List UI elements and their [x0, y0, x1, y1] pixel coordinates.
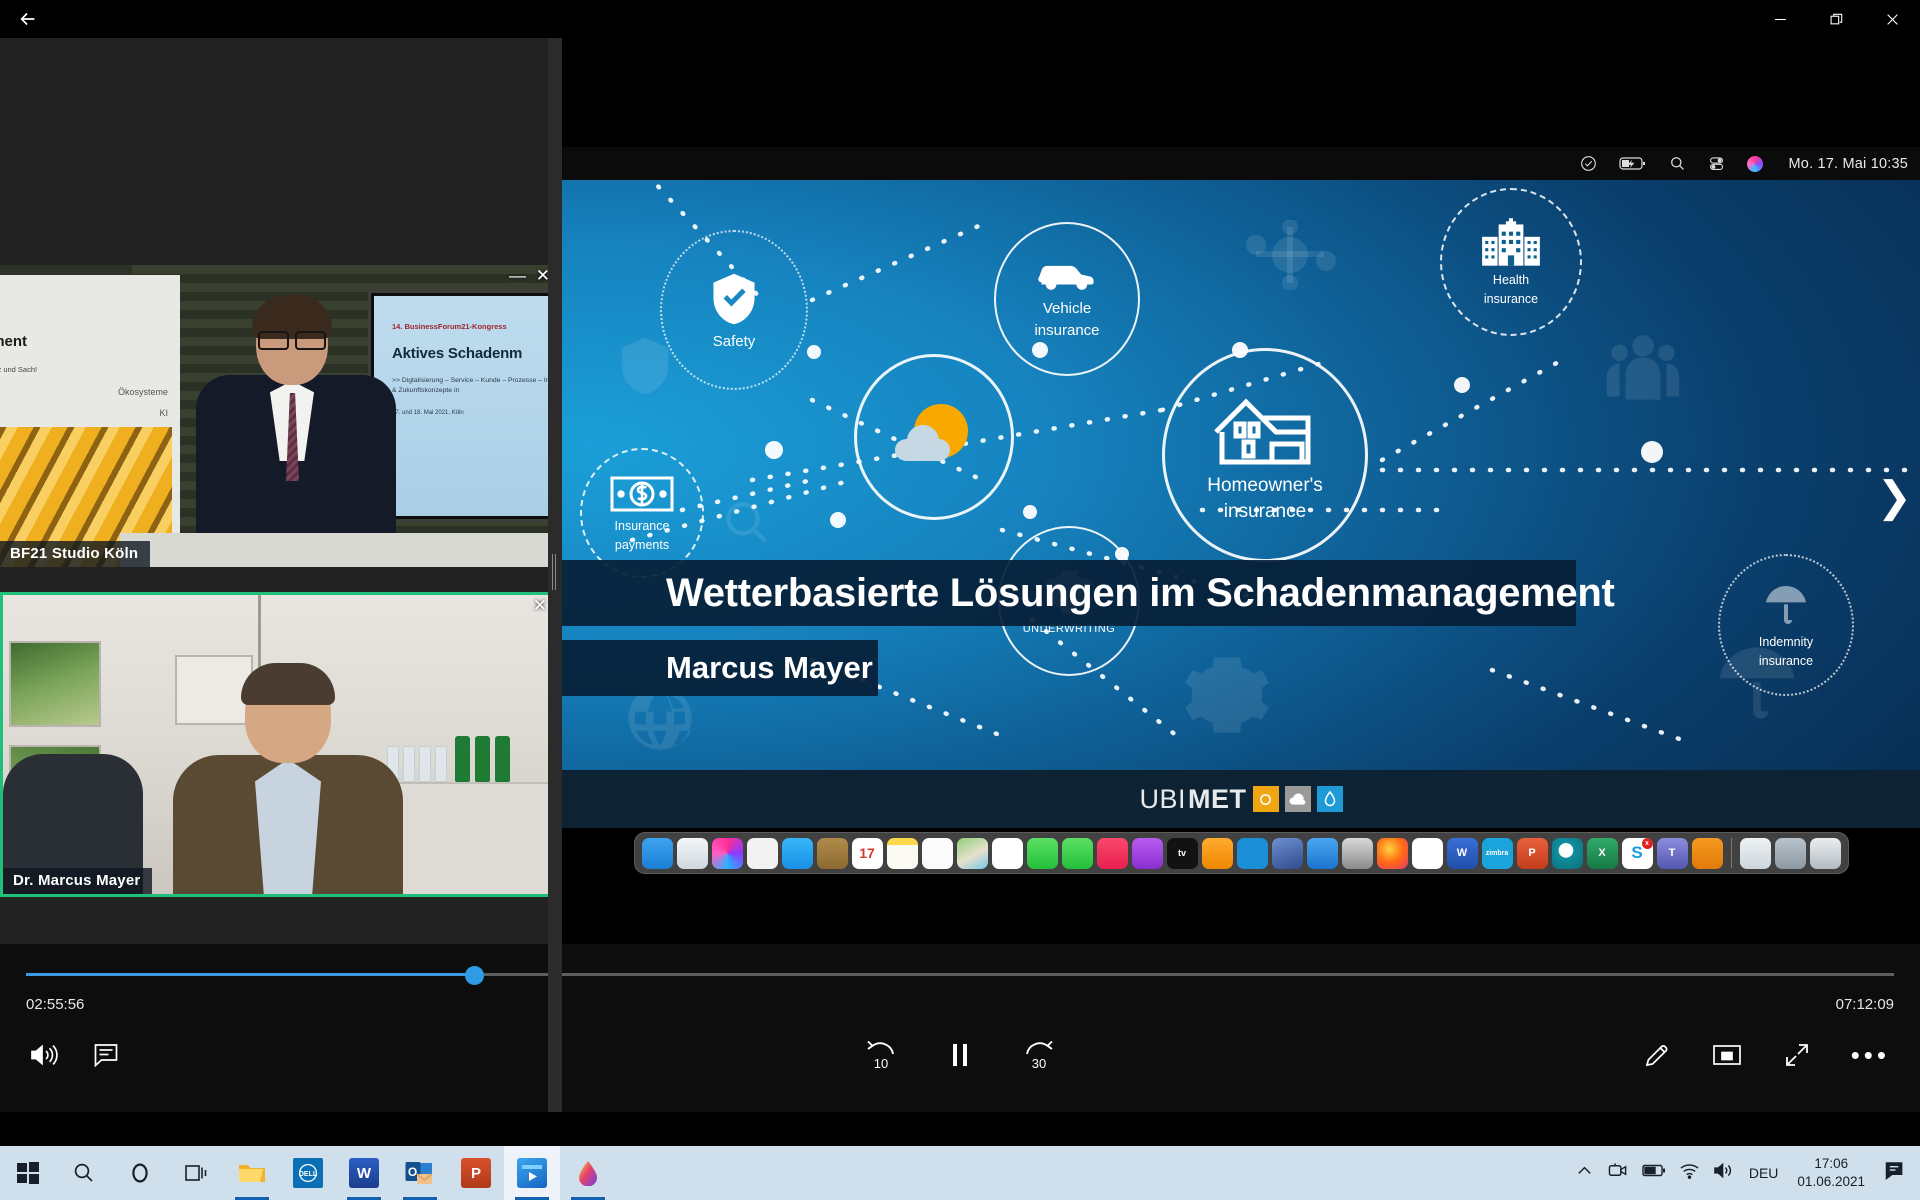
node-vehicle-insurance: Vehicle insurance [994, 222, 1140, 376]
node-insurance-payments: Insurance payments [580, 448, 704, 578]
total-time: 07:12:09 [1836, 996, 1894, 1013]
node-label-line1: Vehicle [1043, 301, 1091, 318]
video-frame: nd 18. Mai 2021, online chadenmanagement… [0, 265, 556, 567]
close-button[interactable] [1864, 0, 1920, 38]
node-label-line1: Health [1493, 273, 1529, 287]
volume-icon[interactable] [28, 1032, 60, 1078]
banner-subline: tegien & Steuerungskonzepte in Kfz und S… [0, 365, 168, 376]
player-controls: 02:55:56 07:12:09 [0, 944, 1920, 1112]
dock-item-word[interactable]: W [1447, 838, 1478, 869]
dock-item-siri[interactable] [712, 838, 743, 869]
dock-separator [1731, 838, 1732, 868]
taskbar-item-start[interactable] [0, 1146, 56, 1200]
dock-item-launchpad[interactable] [747, 838, 778, 869]
dock-item-thunderbird[interactable] [1272, 838, 1303, 869]
player-surface: nd 18. Mai 2021, online chadenmanagement… [0, 32, 1920, 1112]
app-root: nd 18. Mai 2021, online chadenmanagement… [0, 0, 1920, 1200]
taskbar-item-task-view[interactable] [168, 1146, 224, 1200]
dock-item-label: P [1528, 847, 1535, 859]
node-indemnity-insurance: Indemnity insurance [1718, 554, 1854, 696]
pencil-icon[interactable] [1641, 1032, 1673, 1078]
node-label-line2: insurance [1484, 292, 1538, 306]
slide-next-arrow[interactable]: ❯ [1877, 476, 1912, 518]
media-player-icon [517, 1158, 547, 1188]
node-label-line1: Insurance [615, 519, 670, 533]
dock-item-nextcloud[interactable] [1237, 838, 1268, 869]
camera-icon[interactable] [1607, 1161, 1629, 1185]
svg-text:30: 30 [1032, 1056, 1046, 1071]
dock-item-label: S [1631, 843, 1642, 863]
dock-item-teams[interactable]: T [1657, 838, 1688, 869]
node-label-line2: insurance [1224, 501, 1306, 522]
shield-check-icon [706, 269, 762, 329]
dock-item-reminders[interactable] [922, 838, 953, 869]
restore-button[interactable] [1808, 0, 1864, 38]
dock-item-podcasts[interactable] [1132, 838, 1163, 869]
powerpoint-icon: P [461, 1158, 491, 1188]
presentation-monitor: 14. BusinessForum21-Kongress Aktives Sch… [368, 290, 556, 522]
dock-item-powerpoint[interactable]: P [1517, 838, 1548, 869]
dock-item-webex[interactable] [1552, 838, 1583, 869]
window-controls [1752, 0, 1920, 38]
dock-item-appstore[interactable] [1307, 838, 1338, 869]
dock-item-safari[interactable] [677, 838, 708, 869]
dock-item-excel[interactable]: X [1587, 838, 1618, 869]
dock-item-label: 17 [859, 845, 875, 861]
taskbar-item-outlook[interactable]: O [392, 1146, 448, 1200]
start-icon [13, 1158, 43, 1188]
node-label-line2: insurance [1034, 323, 1099, 340]
outlook-icon: O [405, 1158, 435, 1188]
dock-item-messages[interactable] [1027, 838, 1058, 869]
slide-presenter-band: Marcus Mayer [562, 640, 878, 696]
monitor-kicker: 14. BusinessForum21-Kongress [392, 322, 556, 331]
taskbar-item-dell[interactable]: DELL [280, 1146, 336, 1200]
seek-handle[interactable] [465, 966, 484, 985]
dock-item-photos[interactable] [992, 838, 1023, 869]
slide-title: Wetterbasierte Lösungen im Schadenmanage… [666, 571, 1615, 616]
video-tile-marcus-mayer[interactable]: ✕ Dr. Marcus Mayer [0, 592, 556, 897]
windows-taskbar: DELLWOP [0, 1146, 1920, 1200]
dock-item-notes[interactable] [887, 838, 918, 869]
sun-icon [1253, 786, 1279, 812]
taskbar-item-word[interactable]: W [336, 1146, 392, 1200]
banner-col-right2: KI [159, 407, 168, 420]
glasses-icon [258, 331, 326, 346]
dock-item-mail[interactable] [782, 838, 813, 869]
banner-col-right: Ökosysteme [118, 386, 168, 399]
dock-item-label: X [1598, 847, 1605, 859]
node-label-line2: insurance [1759, 654, 1813, 668]
window-titlebar [0, 0, 1920, 38]
bottles-row [455, 736, 510, 782]
slide-title-band: Wetterbasierte Lösungen im Schadenmanage… [562, 560, 1576, 626]
presentation-slide: Safety Vehicle insurance [562, 180, 1920, 770]
tile-name-label: Dr. Marcus Mayer [3, 868, 152, 894]
dock-item-zimbra[interactable]: zimbra [1482, 838, 1513, 869]
word-icon: W [349, 1158, 379, 1188]
node-homeowners-insurance: Homeowner's insurance [1162, 348, 1368, 562]
dock-item-skype[interactable]: Sx [1622, 838, 1653, 869]
sun-cloud-icon [889, 395, 979, 479]
dock-item-label: W [1457, 847, 1467, 859]
magnifier-ghost-icon [722, 498, 772, 548]
pause-button[interactable] [944, 1032, 976, 1078]
search-icon [69, 1158, 99, 1188]
dock-item-documents[interactable] [1740, 838, 1771, 869]
checkmark-circle-icon[interactable] [1580, 155, 1597, 172]
dock-item-sharefile[interactable] [1692, 838, 1723, 869]
node-label-line2: payments [615, 538, 669, 552]
forward-30-button[interactable]: 30 [1020, 1032, 1058, 1078]
rewind-10-button[interactable]: 10 [862, 1032, 900, 1078]
control-center-icon[interactable] [1708, 155, 1725, 172]
more-options-button[interactable]: ••• [1851, 1032, 1890, 1078]
tile-minimize-button[interactable]: — [509, 267, 526, 284]
language-indicator[interactable]: DEU [1749, 1165, 1779, 1181]
tile-close-button[interactable]: ✕ [533, 597, 547, 614]
logo-text-bold: MET [1188, 784, 1247, 815]
speaker-figure [173, 667, 403, 897]
dock-item-facetime[interactable] [1062, 838, 1093, 869]
ubimet-logo-bar: UBI MET [562, 770, 1920, 828]
file-explorer-icon [237, 1158, 267, 1188]
dock-item-settings[interactable] [1342, 838, 1373, 869]
video-tile-studio[interactable]: nd 18. Mai 2021, online chadenmanagement… [0, 265, 556, 567]
system-tray: DEU 17:06 01.06.2021 [1575, 1146, 1920, 1200]
dock-badge: x [1642, 838, 1653, 849]
node-label: Safety [713, 334, 756, 351]
cortana-icon [125, 1158, 155, 1188]
svg-text:DELL: DELL [299, 1171, 318, 1178]
umbrella-icon [1760, 582, 1812, 630]
mac-menubar: Mo. 17. Mai 10:35 [562, 147, 1920, 180]
dock-item-trash[interactable] [1810, 838, 1841, 869]
dock-item-maps[interactable] [957, 838, 988, 869]
slide-presenter: Marcus Mayer [666, 650, 873, 686]
task-view-icon [181, 1158, 211, 1188]
control-row: 10 30 [0, 1032, 1920, 1092]
dell-icon: DELL [293, 1158, 323, 1188]
monitor-date: 17. und 18. Mai 2021, Köln [392, 410, 556, 416]
wall-picture [9, 641, 101, 727]
dock-item-firefox[interactable] [1377, 838, 1408, 869]
dock-item-appletv[interactable]: tv [1167, 838, 1198, 869]
show-hidden-icons-button[interactable] [1575, 1161, 1594, 1185]
house-icon [1212, 388, 1318, 470]
node-label-line1: Homeowner's [1207, 475, 1323, 496]
picture-in-picture-icon[interactable] [1711, 1032, 1743, 1078]
svg-text:10: 10 [874, 1056, 888, 1071]
node-safety: Safety [660, 230, 808, 390]
pane-splitter[interactable] [548, 32, 562, 1112]
dock-item-books[interactable] [1202, 838, 1233, 869]
taskbar-item-search[interactable] [56, 1146, 112, 1200]
notifications-icon[interactable] [1884, 1161, 1906, 1185]
taskbar-item-powerpoint[interactable]: P [448, 1146, 504, 1200]
seek-progress [26, 973, 474, 976]
battery-charging-icon[interactable] [1619, 155, 1647, 172]
mac-dock[interactable]: 17tvWzimbraPXSxT [634, 832, 1849, 874]
node-label-line1: Indemnity [1759, 635, 1813, 649]
hospital-icon [1478, 218, 1544, 268]
menubar-datetime[interactable]: Mo. 17. Mai 10:35 [1789, 156, 1908, 172]
desk [120, 533, 556, 567]
dock-item-label: T [1669, 847, 1676, 859]
mac-dock-container: 17tvWzimbraPXSxT [562, 828, 1920, 878]
clock-date: 01.06.2021 [1797, 1173, 1865, 1191]
dock-item-label: tv [1178, 848, 1186, 858]
captions-icon[interactable] [90, 1032, 122, 1078]
speaker-icon[interactable] [1713, 1161, 1736, 1185]
tile-name-label: BF21 Studio Köln [0, 541, 150, 567]
monitor-bullets: >> Digtalisierung – Service – Kunde – Pr… [392, 376, 556, 396]
people-ghost-icon [1602, 330, 1684, 406]
dock-item-contacts[interactable] [817, 838, 848, 869]
taskbar-item-cortana[interactable] [112, 1146, 168, 1200]
banner-date: nd 18. Mai 2021, online [0, 285, 168, 297]
car-icon [1033, 258, 1101, 296]
current-time: 02:55:56 [26, 996, 84, 1013]
node-health-insurance: Health insurance [1440, 188, 1582, 336]
back-button[interactable] [0, 0, 56, 38]
droplet-icon [1317, 786, 1343, 812]
seek-slider[interactable] [26, 964, 1894, 986]
siri-icon[interactable] [1747, 156, 1763, 172]
monitor-title: Aktives Schadenm [392, 345, 556, 362]
svg-text:O: O [408, 1165, 417, 1179]
taskbar-clock[interactable]: 17:06 01.06.2021 [1797, 1155, 1865, 1191]
node-weather [854, 354, 1014, 520]
banknote-icon [610, 474, 674, 514]
battery-icon[interactable] [1642, 1161, 1666, 1185]
cloud-icon [1285, 786, 1311, 812]
gear-ghost-icon [1182, 650, 1272, 740]
fullscreen-icon[interactable] [1781, 1032, 1813, 1078]
taskbar-items: DELLWOP [0, 1146, 616, 1200]
minimize-button[interactable] [1752, 0, 1808, 38]
counter [381, 782, 556, 894]
dock-item-chrome[interactable] [1412, 838, 1443, 869]
video-frame [3, 595, 553, 894]
molecule-ghost-icon [1242, 220, 1338, 290]
logo-text-light: UBI [1139, 784, 1186, 815]
taskbar-item-media-player[interactable] [504, 1146, 560, 1200]
paint3d-icon [573, 1158, 603, 1188]
taskbar-item-file-explorer[interactable] [224, 1146, 280, 1200]
speaker-figure [196, 301, 396, 567]
rollup-banner: nd 18. Mai 2021, online chadenmanagement… [0, 275, 180, 567]
search-icon[interactable] [1669, 155, 1686, 172]
dock-item-label: zimbra [1486, 850, 1509, 857]
wifi-icon[interactable] [1679, 1161, 1700, 1185]
clock-time: 17:06 [1797, 1155, 1865, 1173]
dock-item-music[interactable] [1097, 838, 1128, 869]
banner-heading: chadenmanagement [0, 331, 168, 353]
taskbar-item-paint3d[interactable] [560, 1146, 616, 1200]
dock-item-downloads[interactable] [1775, 838, 1806, 869]
ubimet-logo: UBI MET [1139, 784, 1342, 815]
dock-item-finder[interactable] [642, 838, 673, 869]
dock-item-calendar[interactable]: 17 [852, 838, 883, 869]
